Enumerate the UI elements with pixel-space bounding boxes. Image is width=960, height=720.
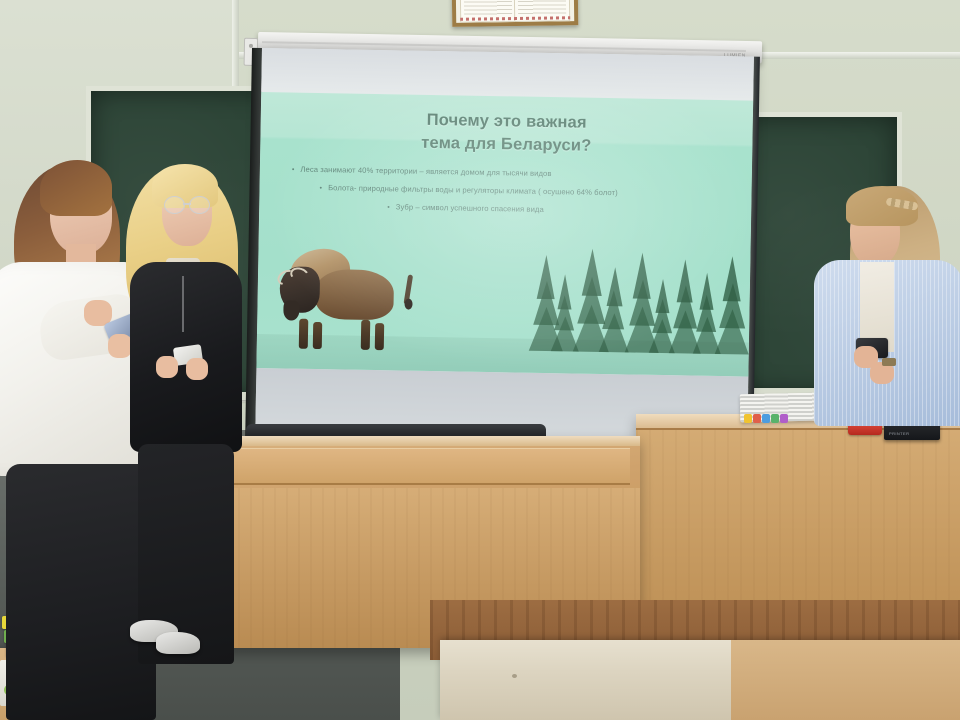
slide-bullet-text: Леса занимают 40% территории – является … (300, 165, 551, 178)
student-desk-wood-section (731, 640, 960, 720)
marker (771, 414, 779, 423)
framed-wall-poster (452, 0, 579, 27)
hair-front (40, 160, 112, 216)
poster-text-lines (464, 0, 512, 15)
hand (156, 356, 178, 378)
wristwatch (882, 358, 896, 366)
student-right-blue-shirt (808, 186, 960, 426)
slide-bullet-item: •Болота- природные фильтры воды и регуля… (260, 182, 752, 200)
tree-tier (700, 272, 715, 309)
tree-tier (677, 260, 694, 303)
glasses-icon (164, 196, 210, 212)
bison-leg (299, 319, 309, 349)
glasses-lens (189, 196, 210, 214)
bullet-dot-icon: • (387, 204, 390, 211)
front-desk-top (190, 436, 640, 446)
classroom-photo-scene: LUMIEN Почему это важная тема для Белару… (0, 0, 960, 720)
student-desk (440, 640, 960, 720)
tree-tier (606, 267, 623, 306)
black-box-label: PRINTER (889, 431, 909, 436)
slide-bullet-item: •Зубр – символ успешного спасения вида (259, 200, 751, 218)
desk-screw (512, 674, 517, 678)
projected-slide: Почему это важная тема для Беларуси? •Ле… (256, 92, 753, 377)
poster-text-lines (518, 0, 566, 15)
bison-illustration (279, 242, 409, 348)
bison-leg (361, 320, 371, 350)
marker (753, 414, 761, 423)
slide-bullet-item: •Леса занимают 40% территории – является… (260, 164, 752, 182)
marker (780, 414, 788, 423)
bullet-dot-icon: • (320, 185, 323, 192)
glasses-lens (164, 196, 185, 214)
bison-leg (313, 322, 322, 349)
marker (762, 414, 770, 423)
slide-bullet-text: Болота- природные фильтры воды и регулят… (328, 183, 618, 197)
bullet-dot-icon: • (292, 166, 295, 173)
conifer-tree (715, 256, 751, 355)
bison-beard (283, 300, 299, 320)
tree-tier (558, 274, 573, 309)
hand (186, 358, 208, 380)
slide-bullet-text: Зубр – символ успешного спасения вида (396, 202, 544, 214)
bison-body (315, 269, 394, 320)
bison-tail-tip (404, 299, 412, 310)
tree-tier (655, 279, 670, 313)
student-middle-blonde-glasses (120, 166, 250, 666)
conifer-forest-illustration (529, 239, 745, 355)
projector-screen: Почему это важная тема для Беларуси? •Ле… (255, 48, 754, 449)
slide-title: Почему это важная тема для Беларуси? (260, 106, 753, 161)
tree-tier (723, 256, 742, 301)
sneaker (156, 632, 200, 654)
bison-leg (375, 323, 384, 350)
colored-markers (744, 414, 790, 423)
marker (744, 414, 752, 423)
zipper (182, 276, 184, 332)
slide-bullet-list: •Леса занимают 40% территории – является… (259, 164, 752, 227)
front-desk-drawer (200, 448, 630, 485)
